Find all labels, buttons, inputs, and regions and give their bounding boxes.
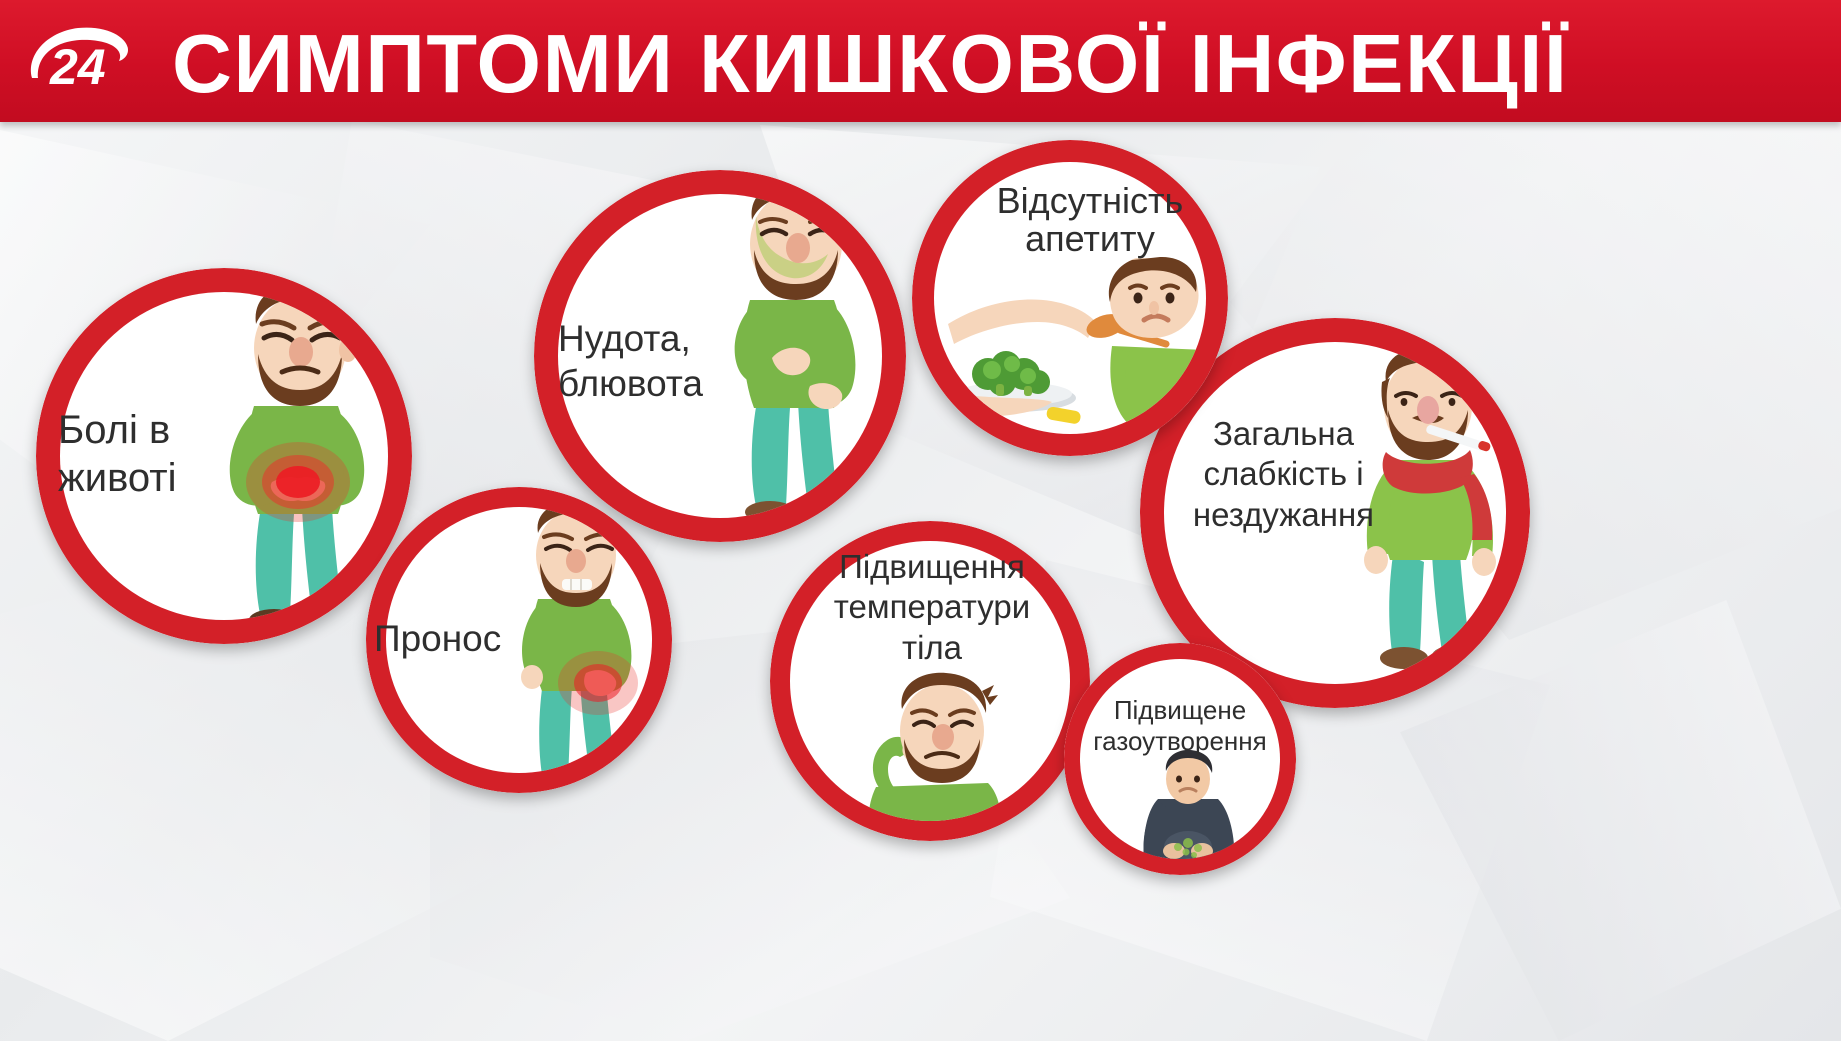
symptom-label-bloating-gas: Підвищене газоутворення — [1064, 695, 1296, 757]
page-title: СИМПТОМИ КИШКОВОЇ ІНФЕКЦІЇ — [172, 14, 1568, 114]
symptom-bubble-loss-of-appetite[interactable]: Відсутність апетиту — [912, 140, 1228, 456]
symptom-label-general-weakness: Загальна слабкість і нездужання — [1176, 414, 1391, 535]
bubble-inner — [1080, 659, 1280, 859]
symptom-label-loss-of-appetite: Відсутність апетиту — [960, 182, 1220, 258]
symptom-label-nausea-vomiting: Нудота, блювота — [558, 316, 773, 406]
channel-24-logo-icon: 24 — [24, 22, 134, 100]
symptom-label-abdominal-pain: Болі в животі — [58, 406, 248, 502]
symptom-bubble-abdominal-pain[interactable]: Болі в животі — [36, 268, 412, 644]
svg-text:24: 24 — [49, 39, 106, 95]
symptom-label-fever: Підвищення температури тіла — [802, 547, 1062, 668]
illustration-man-fever-headache — [850, 669, 1030, 821]
symptom-label-diarrhea: Пронос — [374, 619, 554, 658]
header-bar: 24 СИМПТОМИ КИШКОВОЇ ІНФЕКЦІЇ — [0, 0, 1841, 122]
symptom-bubble-fever[interactable]: Підвищення температури тіла — [770, 521, 1090, 841]
symptom-bubble-diarrhea[interactable]: Пронос — [366, 487, 672, 793]
illustration-man-bloated-belly — [1134, 755, 1244, 859]
symptom-bubble-nausea-vomiting[interactable]: Нудота, блювота — [534, 170, 906, 542]
symptom-bubble-bloating-gas[interactable]: Підвищене газоутворення — [1064, 643, 1296, 875]
illustration-child-refusing-broccoli — [934, 258, 1206, 434]
